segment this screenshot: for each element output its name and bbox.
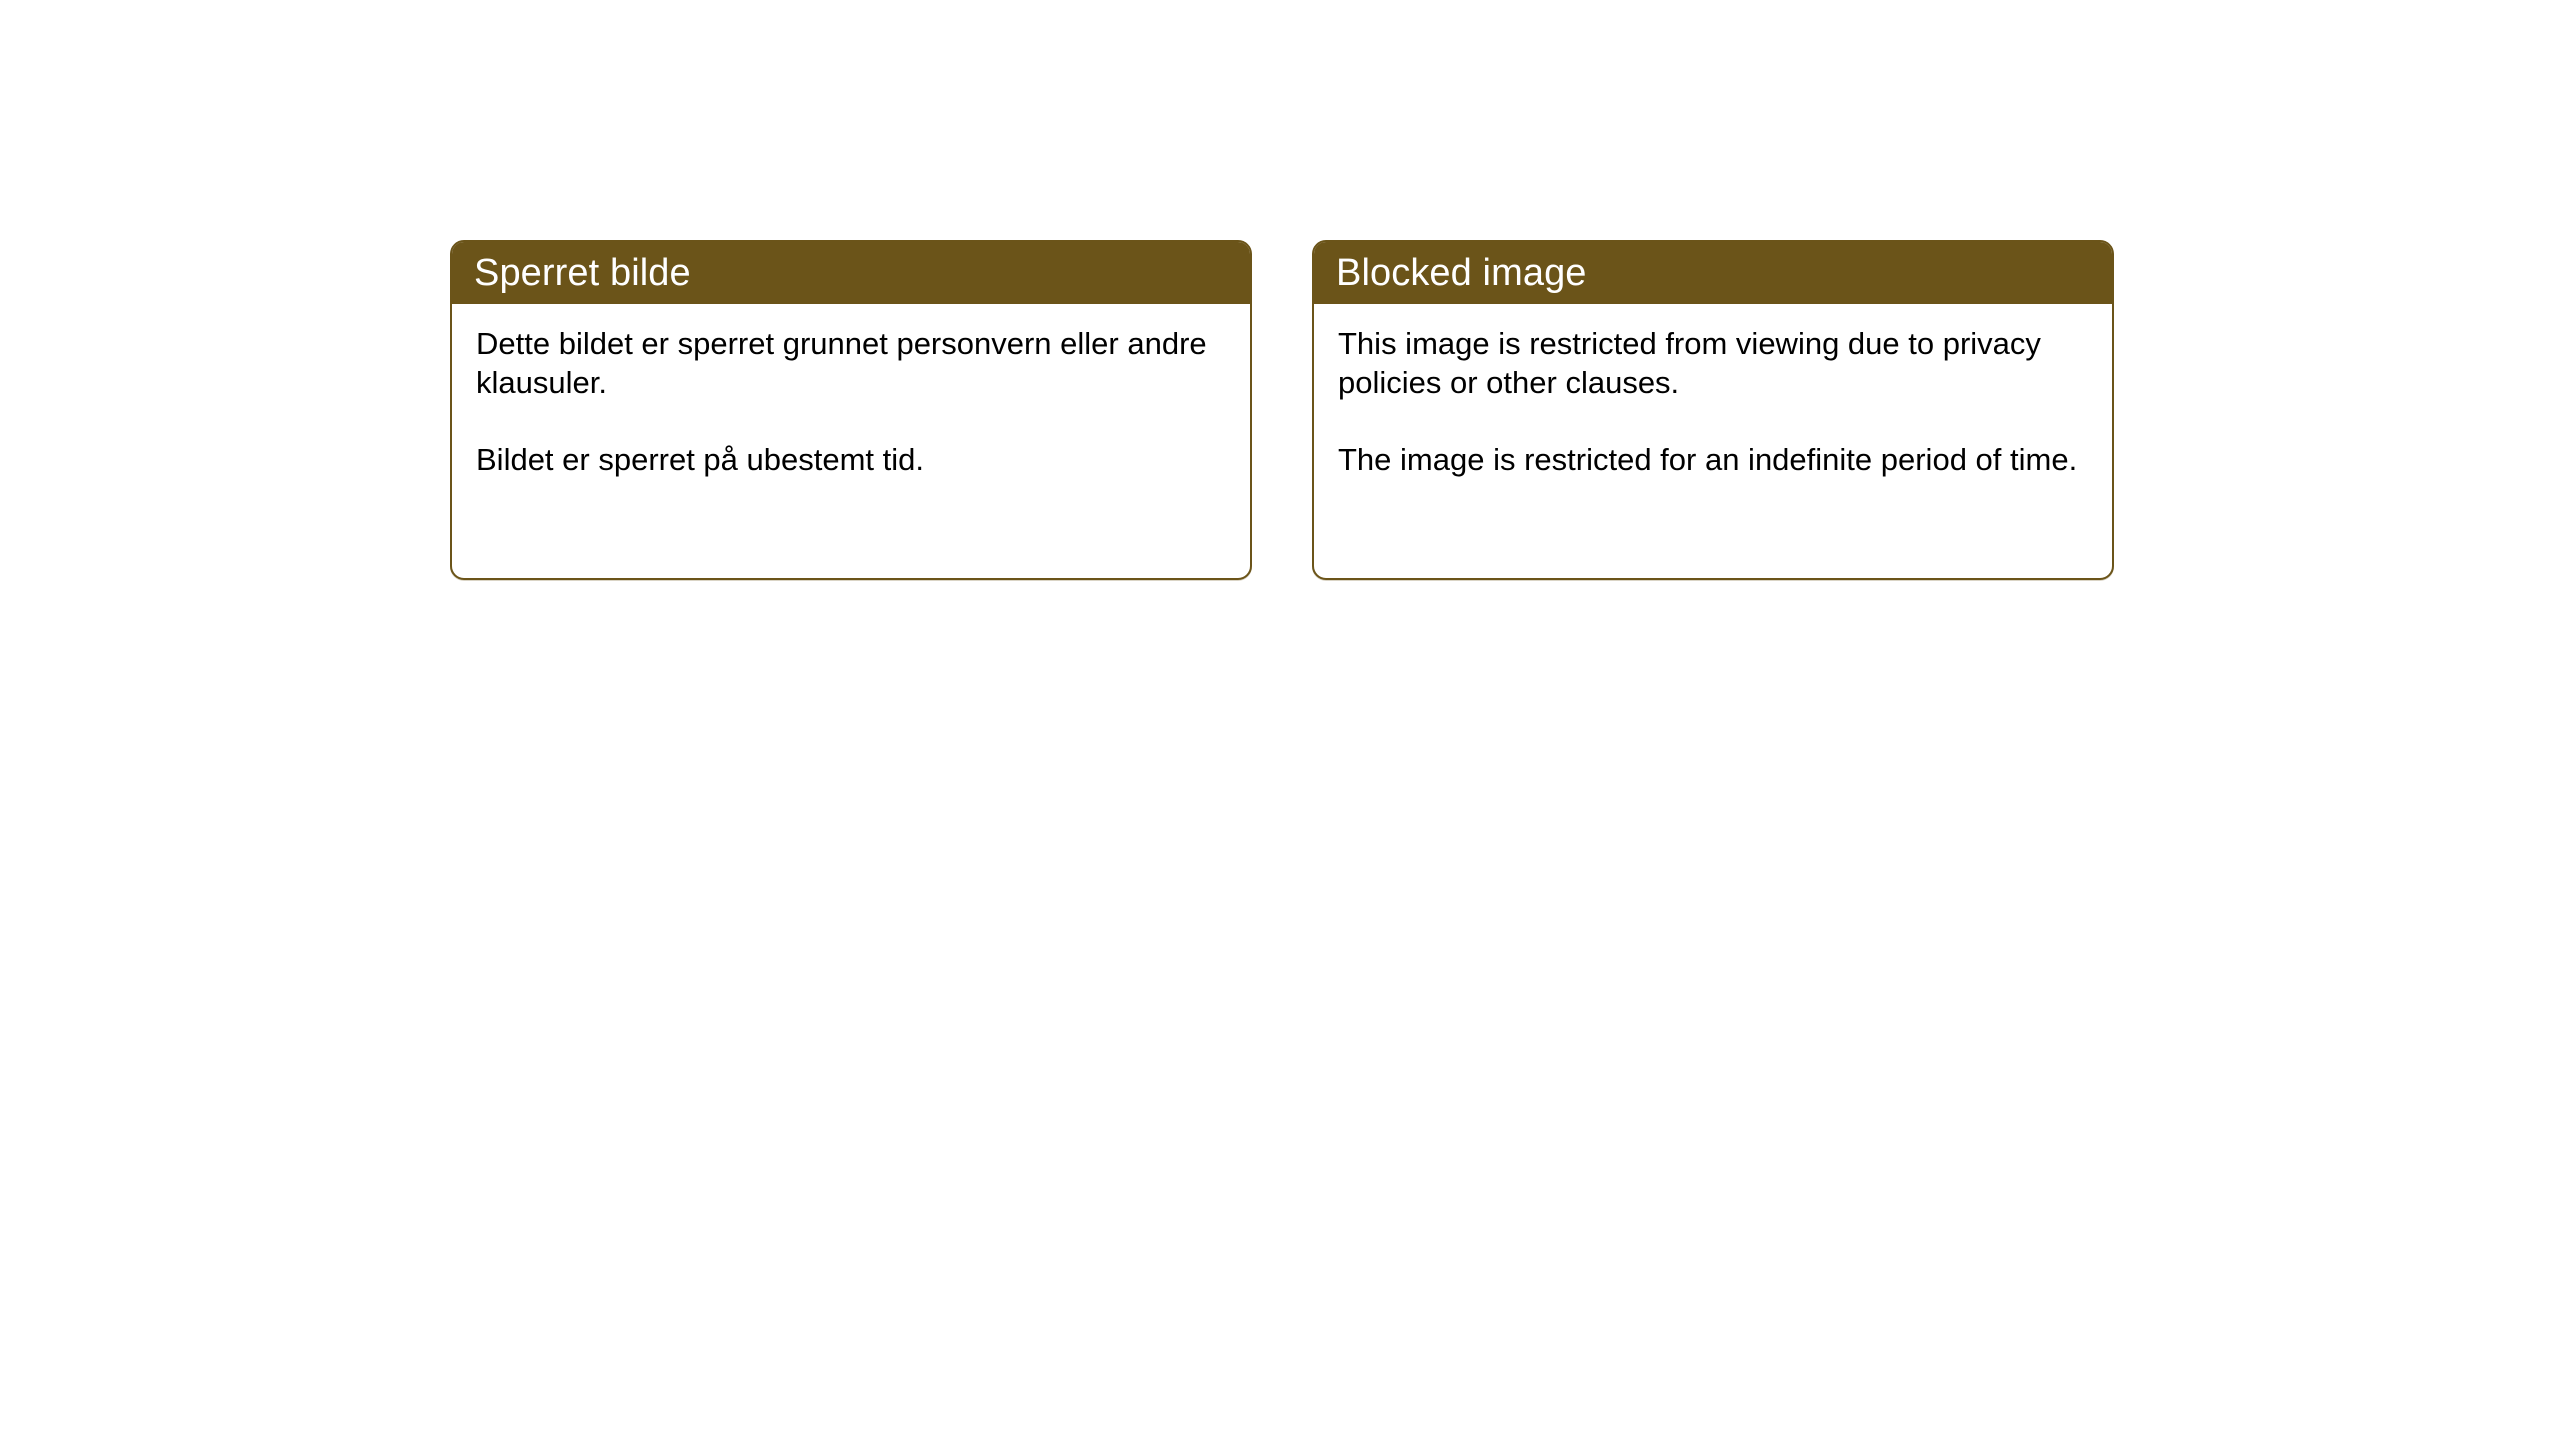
card-title-english: Blocked image — [1336, 254, 1587, 292]
paragraph-spacer-english — [1338, 402, 2088, 440]
card-title-norwegian: Sperret bilde — [474, 254, 691, 292]
card-paragraph-secondary-norwegian: Bildet er sperret på ubestemt tid. — [476, 440, 1216, 479]
blocked-image-card-english: Blocked image This image is restricted f… — [1312, 240, 2114, 580]
card-body-english: This image is restricted from viewing du… — [1314, 304, 2112, 479]
card-paragraph-secondary-english: The image is restricted for an indefinit… — [1338, 440, 2078, 479]
card-paragraph-primary-english: This image is restricted from viewing du… — [1338, 324, 2078, 402]
card-header-norwegian: Sperret bilde — [452, 242, 1250, 304]
paragraph-spacer-norwegian — [476, 402, 1226, 440]
card-body-norwegian: Dette bildet er sperret grunnet personve… — [452, 304, 1250, 479]
blocked-image-notice-area: Sperret bilde Dette bildet er sperret gr… — [0, 0, 2560, 1440]
card-paragraph-primary-norwegian: Dette bildet er sperret grunnet personve… — [476, 324, 1216, 402]
blocked-image-card-norwegian: Sperret bilde Dette bildet er sperret gr… — [450, 240, 1252, 580]
card-header-english: Blocked image — [1314, 242, 2112, 304]
